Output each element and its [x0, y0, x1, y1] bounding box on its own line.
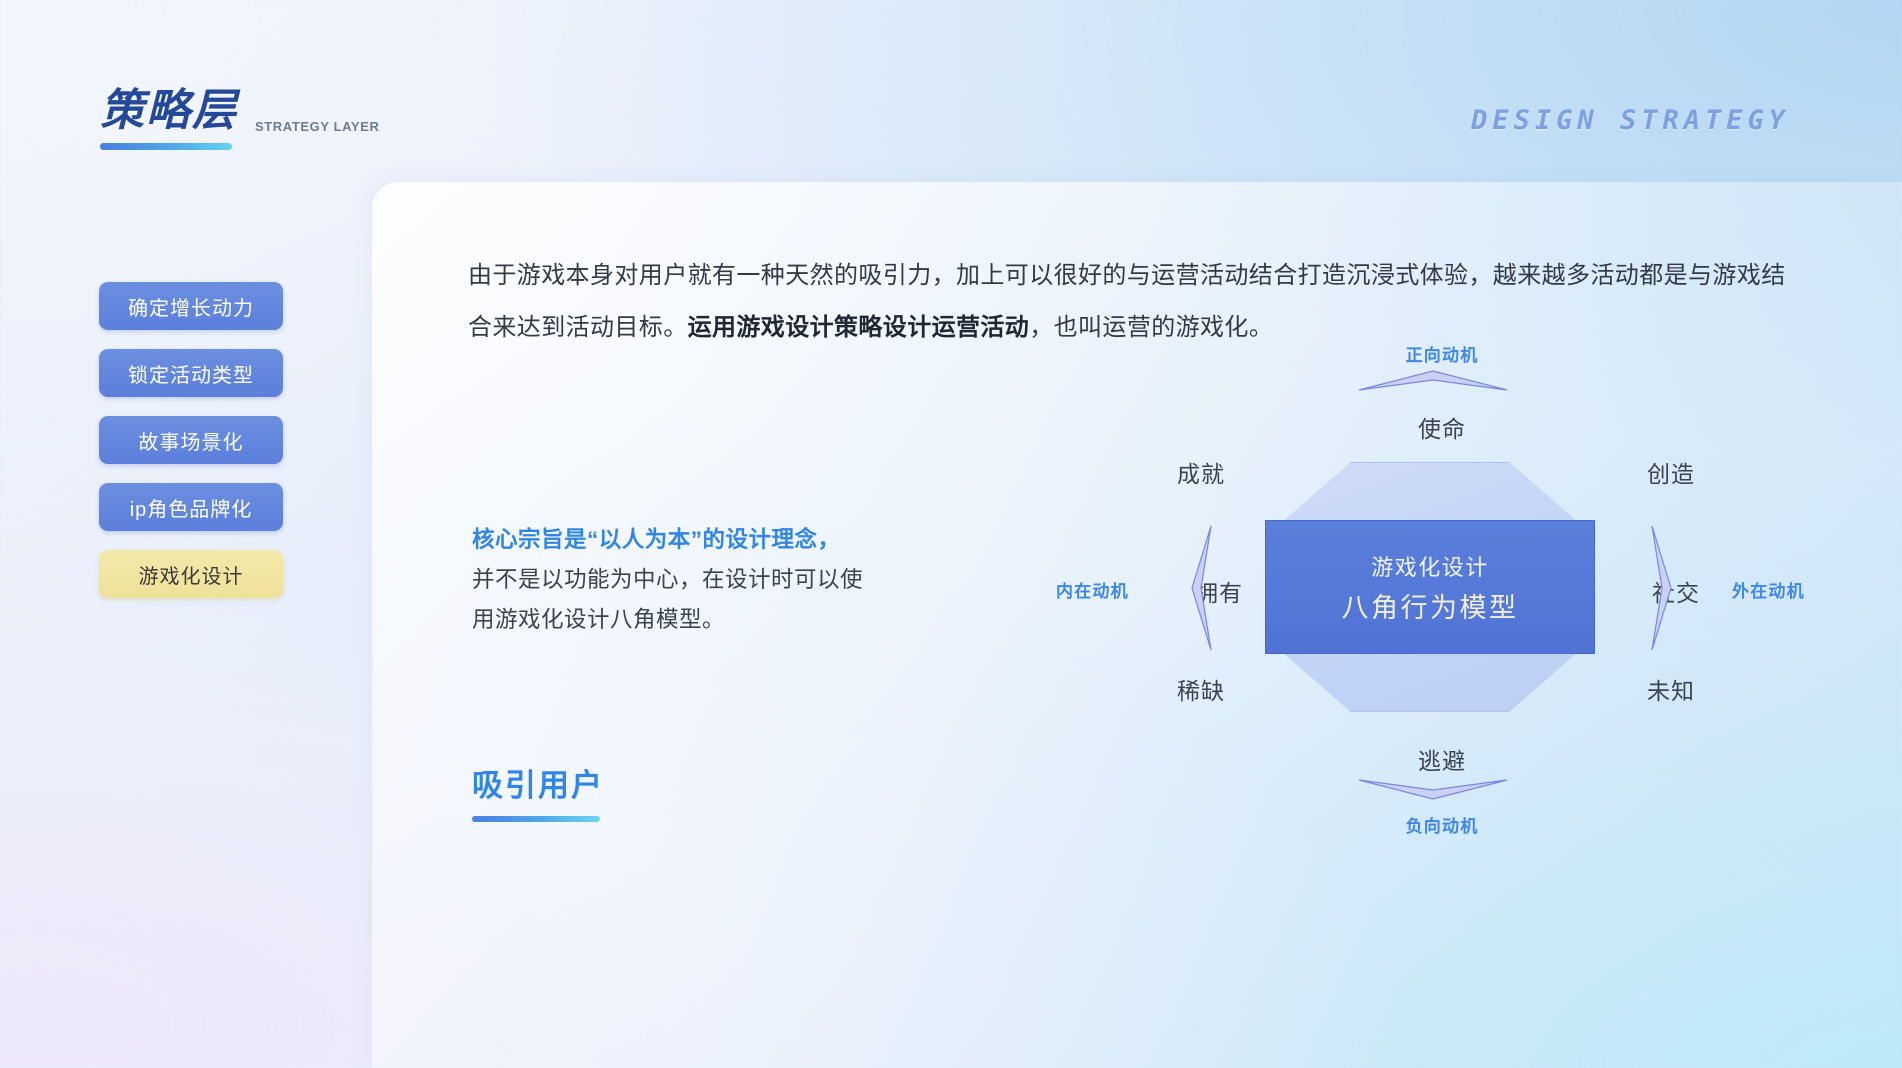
- page-header: 策略层 STRATEGY LAYER DESIGN STRATEGY: [0, 0, 1902, 182]
- copy-block: 核心宗旨是“以人为本”的设计理念， 并不是以功能为中心，在设计时可以使 用游戏化…: [472, 520, 992, 640]
- sidebar-item-growth[interactable]: 确定增长动力: [99, 282, 283, 330]
- sidebar-item-gamification[interactable]: 游戏化设计: [99, 550, 283, 598]
- sidebar-nav: 确定增长动力 锁定活动类型 故事场景化 ip角色品牌化 游戏化设计: [99, 282, 283, 598]
- sidebar: 确定增长动力 锁定活动类型 故事场景化 ip角色品牌化 游戏化设计 DESIGN…: [0, 182, 372, 1068]
- core-title: 八角行为模型: [1342, 586, 1519, 625]
- sidebar-item-activity-type[interactable]: 锁定活动类型: [99, 349, 283, 397]
- bracket-right-icon: [1650, 524, 1674, 652]
- logo-title-cn: 策略层: [100, 88, 238, 134]
- logo: 策略层 STRATEGY LAYER: [100, 88, 379, 150]
- logo-subtitle-en: STRATEGY LAYER: [255, 119, 379, 150]
- bracket-top-icon: [1357, 368, 1509, 392]
- copy-line-3: 用游戏化设计八角模型。: [472, 600, 992, 640]
- octagon-label-creation: 创造: [1647, 455, 1695, 489]
- content-card: 由于游戏本身对用户就有一种天然的吸引力，加上可以很好的与运营活动结合打造沉浸式体…: [372, 182, 1902, 1068]
- section-underline-bar: [472, 816, 600, 822]
- core-subtitle: 游戏化设计: [1371, 550, 1489, 582]
- bracket-bottom-icon: [1357, 778, 1509, 802]
- axis-label-negative: 负向动机: [1032, 812, 1852, 837]
- octagon-label-mission: 使命: [1032, 410, 1852, 444]
- header-brand-title: DESIGN STRATEGY: [1471, 105, 1790, 136]
- sidebar-item-ip-branding[interactable]: ip角色品牌化: [99, 483, 283, 531]
- octagon-label-achievement: 成就: [1177, 455, 1225, 489]
- logo-block: 策略层: [100, 88, 238, 150]
- octagon-diagram: 游戏化设计 八角行为模型 使命 成就 创造 拥有 社交 稀缺 未知 逃避 正向动…: [1032, 312, 1852, 952]
- lead-emphasis: 运用游戏设计策略设计运营活动: [688, 314, 1030, 341]
- axis-label-extrinsic: 外在动机: [1732, 577, 1805, 602]
- logo-underline-bar: [100, 143, 232, 150]
- octagon-label-scarcity: 稀缺: [1177, 672, 1225, 706]
- axis-label-positive: 正向动机: [1032, 341, 1852, 366]
- octagon-label-unknown: 未知: [1647, 672, 1695, 706]
- copy-line-1: 核心宗旨是“以人为本”的设计理念，: [472, 520, 992, 560]
- bracket-left-icon: [1189, 524, 1213, 652]
- octagon-label-avoidance: 逃避: [1032, 742, 1852, 776]
- section-heading: 吸引用户: [472, 760, 604, 822]
- sidebar-item-story-scene[interactable]: 故事场景化: [99, 416, 283, 464]
- copy-line-2: 并不是以功能为中心，在设计时可以使: [472, 560, 992, 600]
- section-title-text: 吸引用户: [472, 760, 604, 805]
- axis-label-intrinsic: 内在动机: [1056, 577, 1129, 602]
- octagon-core-box: 游戏化设计 八角行为模型: [1265, 520, 1595, 654]
